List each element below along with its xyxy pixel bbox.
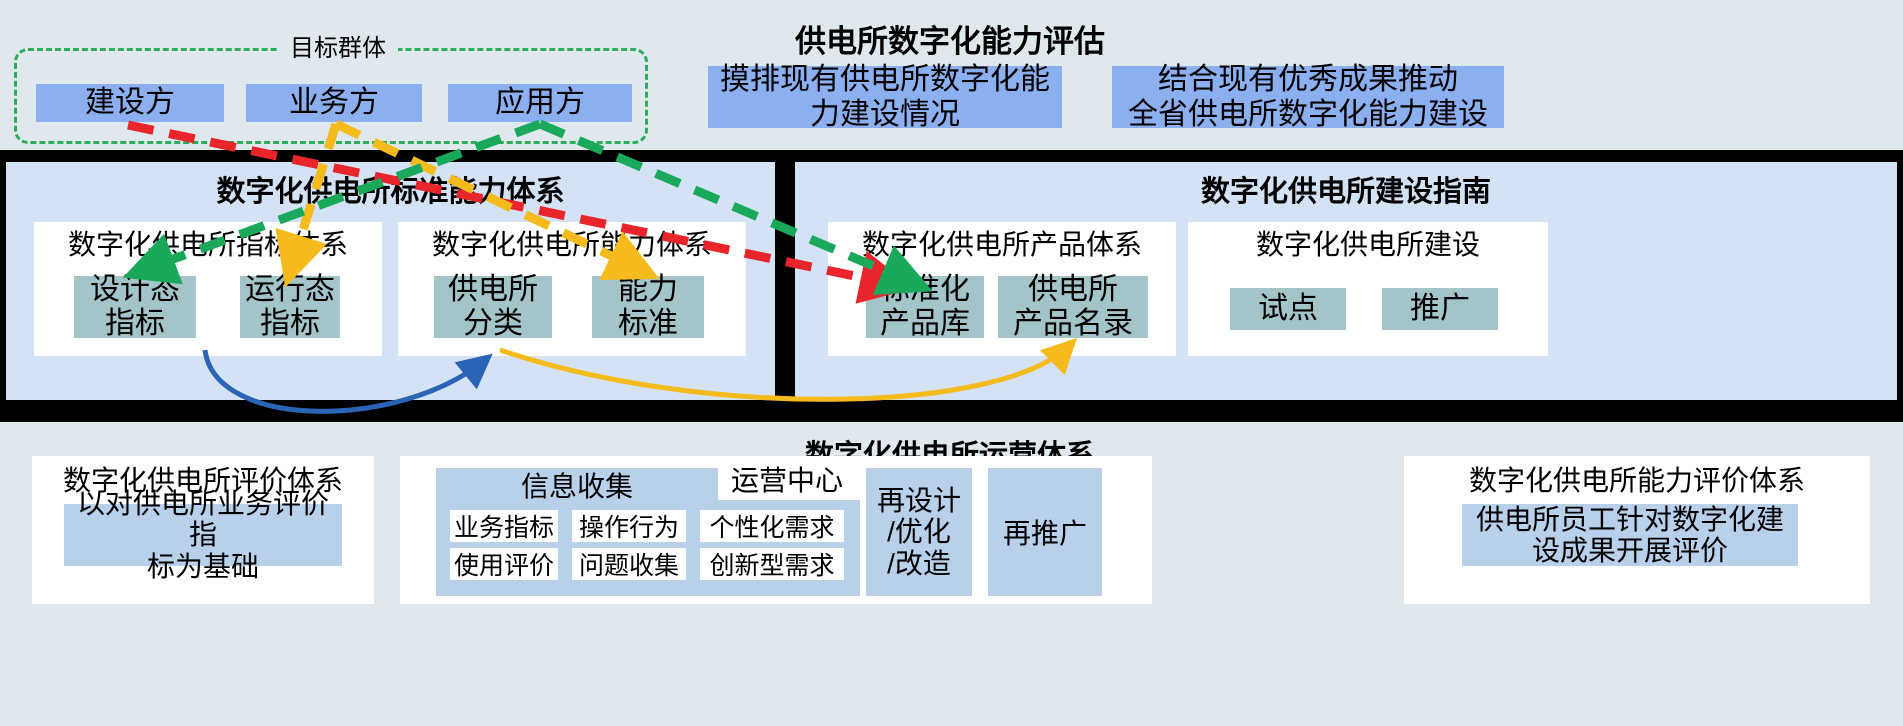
capability-evaluation-title: 数字化供电所能力评价体系 [1404, 466, 1870, 497]
goal-box-promote[interactable]: 结合现有优秀成果推动 全省供电所数字化能力建设 [1112, 66, 1504, 128]
demand-item-innovative-label: 创新型需求 [709, 546, 834, 582]
redesign-box[interactable]: 再设计 /优化 /改造 [866, 468, 972, 596]
indicator-box-design-state[interactable]: 设计态 指标 [74, 276, 196, 338]
construction-guide-panel-title: 数字化供电所建设指南 [795, 168, 1897, 210]
collect-item-operation-behavior-label: 操作行为 [579, 508, 679, 544]
collect-item-issue-collection[interactable]: 问题收集 [572, 548, 686, 580]
demand-item-innovative[interactable]: 创新型需求 [700, 548, 844, 580]
collect-item-operation-behavior[interactable]: 操作行为 [572, 510, 686, 542]
repromote-box[interactable]: 再推广 [988, 468, 1102, 596]
information-collection-label: 信息收集 [436, 472, 718, 503]
product-box-catalog[interactable]: 供电所 产品名录 [998, 276, 1148, 338]
collect-item-issue-collection-label: 问题收集 [579, 546, 679, 582]
construction-box-pilot[interactable]: 试点 [1230, 288, 1346, 330]
main-title: 供电所数字化能力评估 [620, 16, 1280, 61]
standard-capability-panel-title: 数字化供电所标准能力体系 [6, 168, 775, 210]
capability-box-standard[interactable]: 能力 标准 [592, 276, 704, 338]
audience-box-application[interactable]: 应用方 [448, 84, 632, 122]
collect-item-usage-evaluation-label: 使用评价 [454, 546, 554, 582]
audience-box-builder[interactable]: 建设方 [36, 84, 224, 122]
product-box-standard-library[interactable]: 标准化 产品库 [866, 276, 984, 338]
bottom-band-separator [0, 400, 1903, 422]
audience-box-business[interactable]: 业务方 [246, 84, 422, 122]
diagram-root: 供电所数字化能力评估 目标群体 建设方 业务方 应用方 摸排现有供电所数字化能 … [0, 0, 1903, 726]
collect-item-usage-evaluation[interactable]: 使用评价 [450, 548, 558, 580]
target-group-label: 目标群体 [268, 36, 408, 62]
collect-item-business-index[interactable]: 业务指标 [450, 510, 558, 542]
indicator-system-title: 数字化供电所指标体系 [34, 230, 382, 261]
demand-item-personalized-label: 个性化需求 [709, 508, 834, 544]
product-system-title: 数字化供电所产品体系 [828, 230, 1176, 261]
goal-box-survey[interactable]: 摸排现有供电所数字化能 力建设情况 [708, 66, 1062, 128]
construction-box-rollout[interactable]: 推广 [1382, 288, 1498, 330]
capability-box-station-type[interactable]: 供电所 分类 [434, 276, 552, 338]
operation-center-label: 运营中心 [712, 466, 862, 497]
capability-system-title: 数字化供电所能力体系 [398, 230, 746, 261]
indicator-box-running-state[interactable]: 运行态 指标 [240, 276, 340, 338]
collect-item-business-index-label: 业务指标 [454, 508, 554, 544]
construction-group-title: 数字化供电所建设 [1188, 230, 1548, 261]
capability-evaluation-body: 供电所员工针对数字化建 设成果开展评价 [1462, 504, 1798, 566]
demand-item-personalized[interactable]: 个性化需求 [700, 510, 844, 542]
middle-panel-divider [775, 150, 795, 400]
evaluation-system-body: 以对供电所业务评价指 标为基础 [64, 504, 342, 566]
